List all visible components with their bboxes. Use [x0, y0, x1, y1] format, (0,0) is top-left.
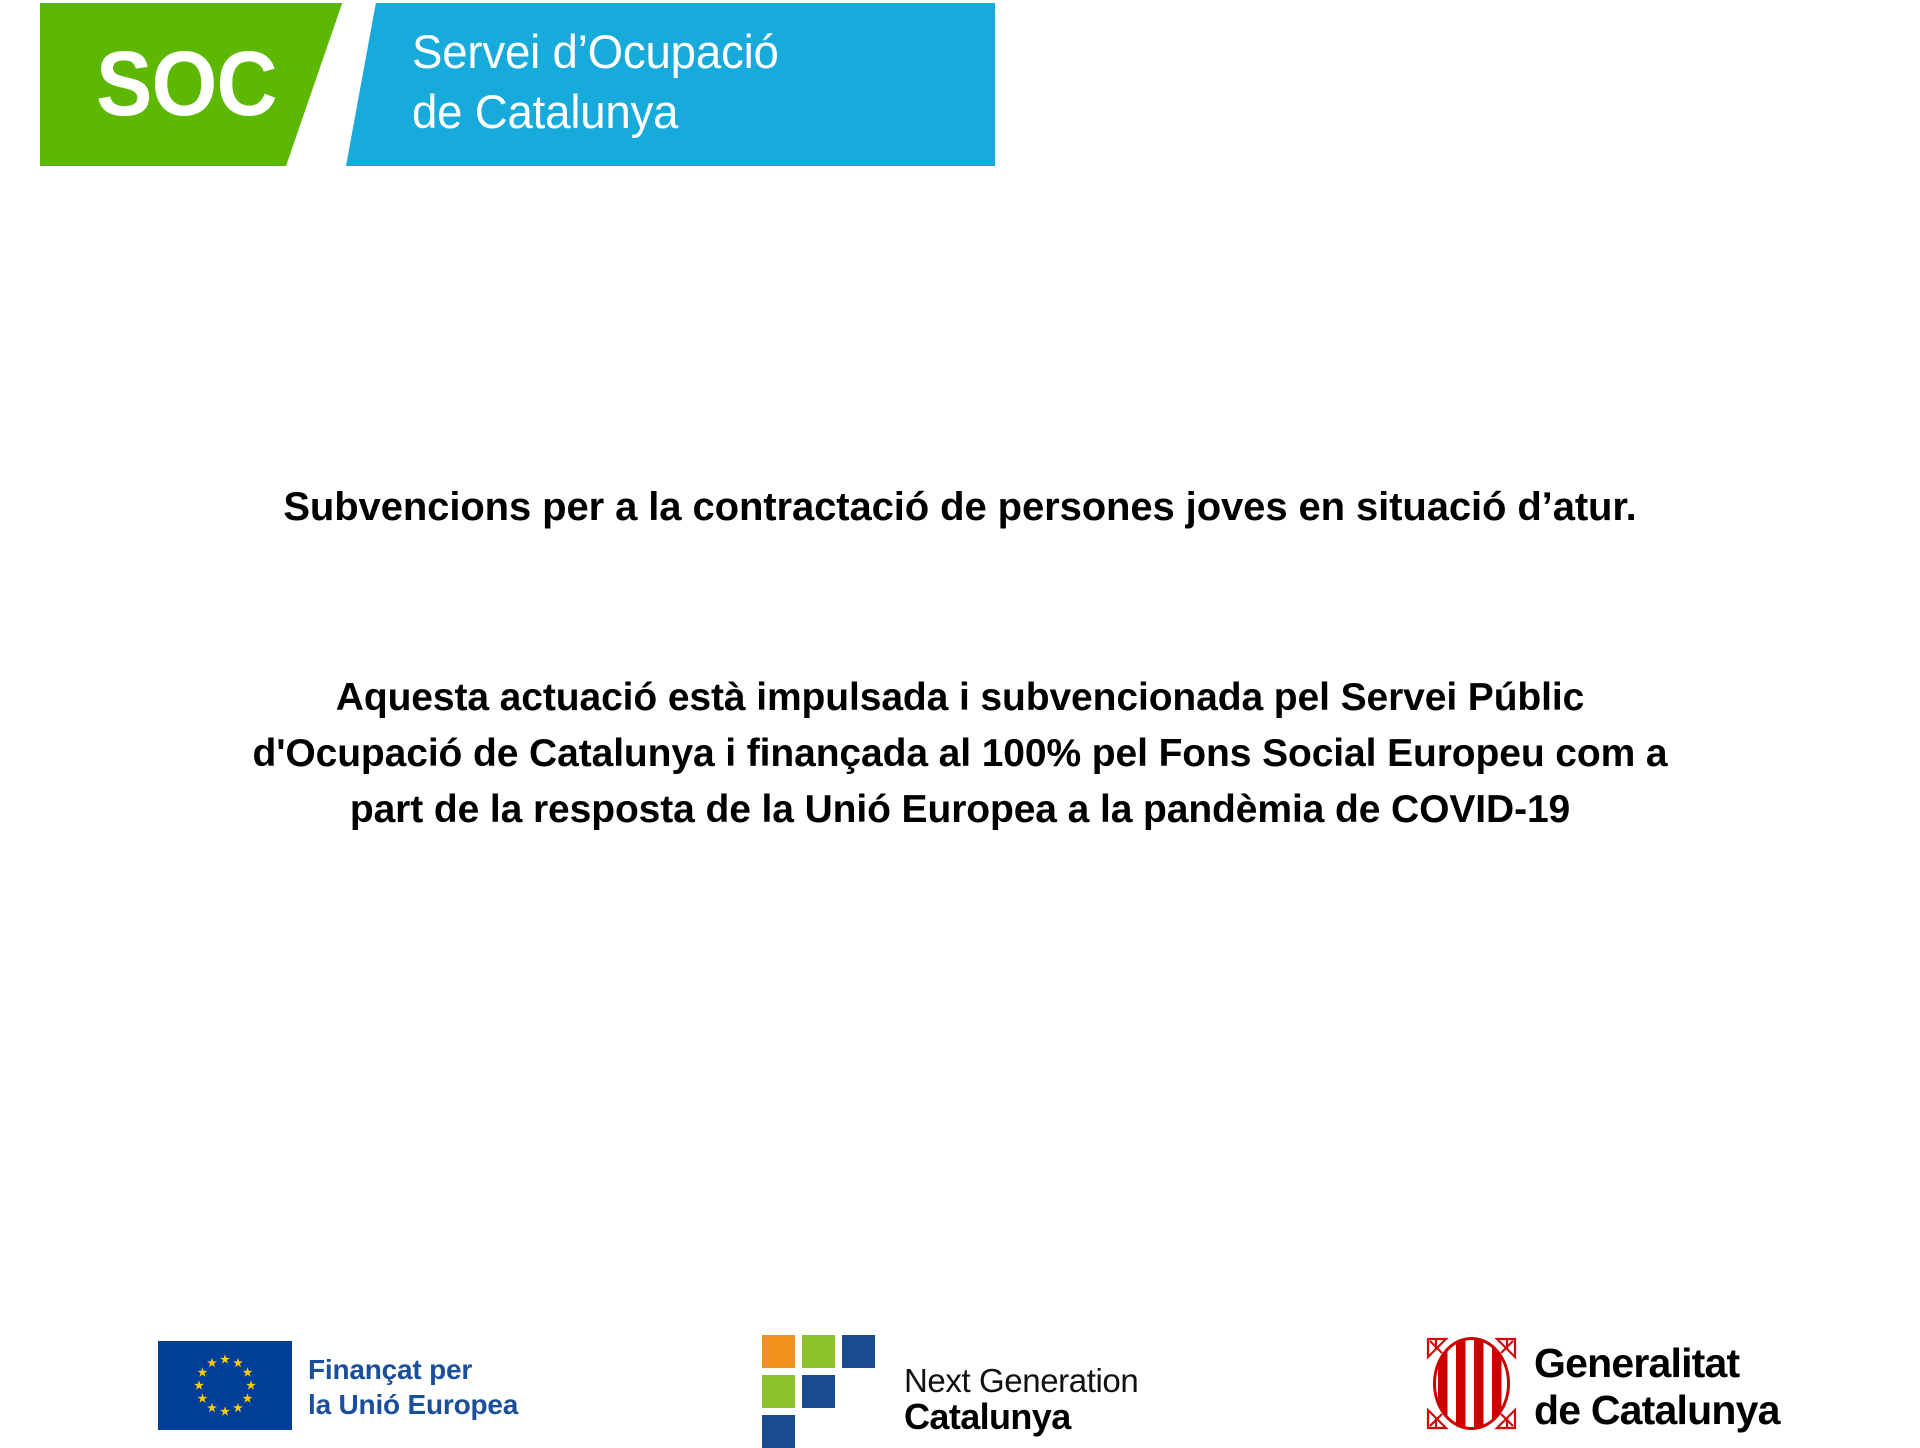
- eu-star: [198, 1393, 208, 1402]
- footer-logo-row: Finançat per la Unió Europea Next Genera…: [0, 1330, 1920, 1432]
- page-title-text: Subvencions per a la contractació de per…: [0, 480, 1920, 534]
- next-generation-tile: [802, 1335, 835, 1368]
- next-generation-tile: [762, 1375, 795, 1408]
- eu-funding-label: Finançat per la Unió Europea: [308, 1352, 518, 1422]
- eu-star: [233, 1403, 243, 1412]
- generalitat-label-line2: de Catalunya: [1534, 1387, 1780, 1433]
- eu-star: [233, 1358, 243, 1367]
- eu-star: [207, 1403, 217, 1412]
- funding-statement-line-3: part de la resposta de la Unió Europea a…: [0, 782, 1920, 838]
- eu-star: [220, 1354, 230, 1363]
- generalitat-label: Generalitat de Catalunya: [1534, 1340, 1780, 1434]
- eu-star: [198, 1367, 208, 1376]
- soc-logo-tagline-line1: Servei d’Ocupació: [412, 21, 779, 83]
- generalitat-de-catalunya-logo: Generalitat de Catalunya: [1424, 1335, 1894, 1432]
- soc-logo-acronym: SOC: [96, 25, 277, 143]
- soc-logo-tagline-line2: de Catalunya: [412, 81, 678, 143]
- soc-logo: SOC Servei d’Ocupació de Catalunya: [40, 3, 995, 166]
- eu-funding-logo: Finançat per la Unió Europea: [158, 1341, 578, 1431]
- eu-stars-icon: [158, 1341, 292, 1430]
- generalitat-shield-icon: [1424, 1335, 1519, 1432]
- next-generation-tile: [802, 1375, 835, 1408]
- next-generation-label-line1: Next Generation: [904, 1363, 1138, 1399]
- next-generation-tile: [762, 1335, 795, 1368]
- eu-star: [220, 1406, 230, 1415]
- eu-star: [207, 1358, 217, 1367]
- next-generation-label-line2: Catalunya: [904, 1397, 1071, 1437]
- eu-star: [243, 1393, 253, 1402]
- funding-statement-line-2: d'Ocupació de Catalunya i finançada al 1…: [0, 726, 1920, 782]
- funding-statement: Aquesta actuació està impulsada i subven…: [0, 670, 1920, 838]
- funding-statement-line-1: Aquesta actuació està impulsada i subven…: [0, 670, 1920, 726]
- generalitat-label-line1: Generalitat: [1534, 1340, 1739, 1386]
- page-title: Subvencions per a la contractació de per…: [0, 480, 1920, 534]
- eu-star: [246, 1380, 256, 1389]
- eu-star: [243, 1367, 253, 1376]
- next-generation-catalunya-logo: Next Generation Catalunya: [762, 1335, 1182, 1432]
- eu-funding-label-line1: Finançat per: [308, 1354, 472, 1385]
- eu-funding-label-line2: la Unió Europea: [308, 1389, 518, 1420]
- eu-flag: [158, 1341, 292, 1430]
- next-generation-tile: [842, 1335, 875, 1368]
- eu-star: [194, 1380, 204, 1389]
